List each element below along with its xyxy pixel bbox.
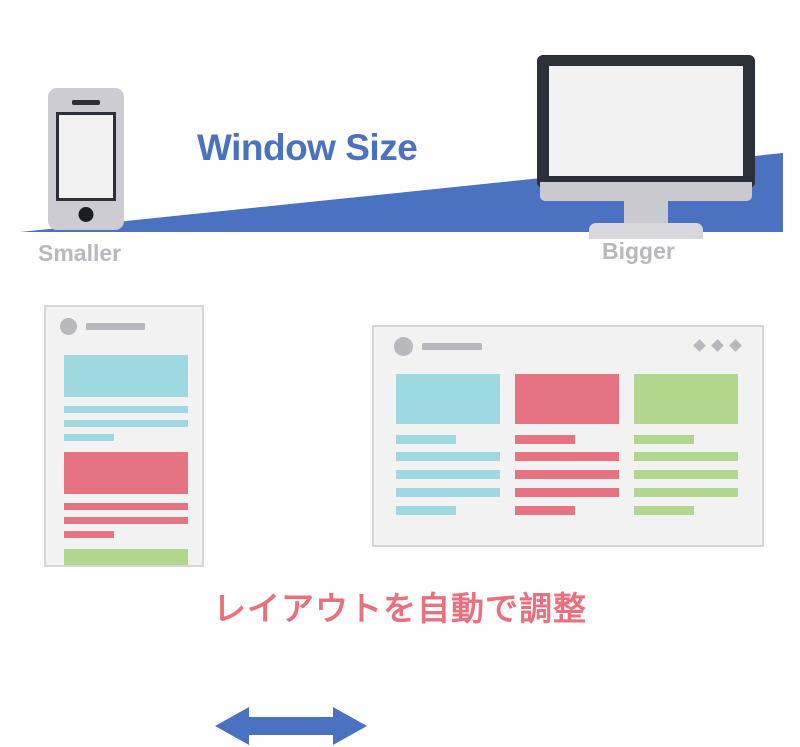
label-smaller: Smaller — [38, 240, 121, 267]
text-line — [634, 506, 694, 515]
diamond-icon — [711, 339, 724, 352]
desktop-layout-mockup — [372, 325, 764, 547]
mobile-mockup-header — [46, 307, 202, 341]
content-block-red — [64, 452, 188, 494]
monitor-screen — [549, 66, 743, 176]
title-placeholder-bar — [86, 323, 145, 330]
text-line — [396, 452, 500, 461]
phone-speaker-icon — [72, 100, 100, 105]
illustration-canvas: Window Size Smaller Bigger — [0, 0, 800, 630]
mobile-layout-mockup — [44, 305, 204, 567]
smartphone-icon — [48, 88, 124, 230]
phone-screen — [56, 112, 116, 201]
label-bigger: Bigger — [602, 238, 675, 265]
text-line — [396, 435, 456, 444]
text-line — [634, 452, 738, 461]
text-line — [634, 435, 694, 444]
content-block-cyan — [64, 355, 188, 397]
phone-home-button-icon — [79, 207, 94, 222]
avatar — [394, 337, 413, 356]
caption-text: レイアウトを自動で調整 — [0, 582, 800, 630]
text-line — [515, 488, 619, 497]
window-size-scene: Window Size Smaller Bigger — [0, 0, 800, 285]
text-line — [64, 531, 114, 538]
content-block-red — [515, 374, 619, 424]
text-line — [64, 420, 188, 427]
text-line — [64, 517, 188, 524]
text-line — [396, 488, 500, 497]
text-line — [396, 470, 500, 479]
text-line — [515, 506, 575, 515]
double-headed-arrow-icon — [215, 705, 367, 747]
text-line — [634, 470, 738, 479]
desktop-mockup-header — [374, 327, 762, 361]
content-block-cyan — [396, 374, 500, 424]
title-placeholder-bar — [422, 343, 482, 350]
monitor-chin — [540, 182, 752, 201]
text-line — [515, 470, 619, 479]
content-block-green — [64, 549, 188, 567]
text-line — [64, 434, 114, 441]
text-line — [64, 503, 188, 510]
text-line — [396, 506, 456, 515]
desktop-monitor-icon — [537, 55, 755, 230]
text-line — [64, 406, 188, 413]
responsive-layout-scene — [0, 285, 800, 630]
text-line — [634, 488, 738, 497]
avatar — [60, 318, 77, 335]
menu-diamonds — [695, 341, 740, 350]
text-line — [515, 452, 619, 461]
text-line — [515, 435, 575, 444]
content-block-green — [634, 374, 738, 424]
monitor-base — [589, 223, 703, 239]
page-title: Window Size — [197, 127, 417, 169]
diamond-icon — [693, 339, 706, 352]
diamond-icon — [729, 339, 742, 352]
monitor-frame — [537, 55, 755, 188]
